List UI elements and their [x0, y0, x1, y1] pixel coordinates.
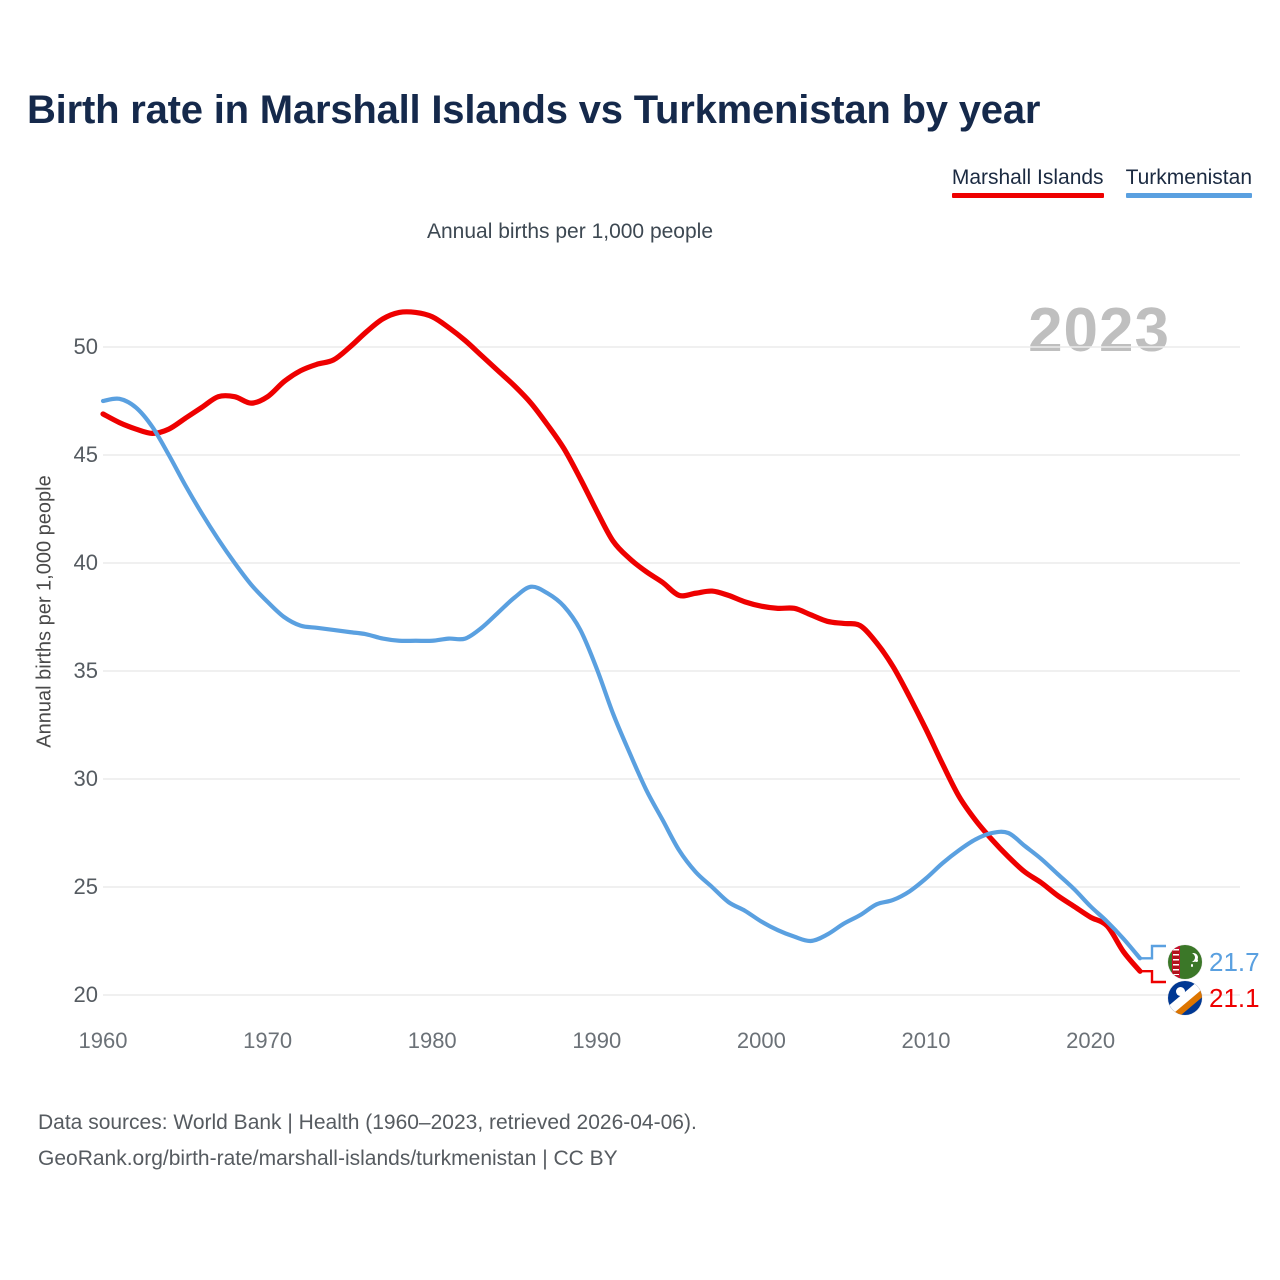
footer-attribution: GeoRank.org/birth-rate/marshall-islands/… [38, 1141, 697, 1177]
footer: Data sources: World Bank | Health (1960–… [38, 1105, 697, 1177]
marshall-islands-flag-icon [1168, 981, 1202, 1015]
end-value-marshall-islands: 21.1 [1209, 983, 1260, 1014]
series-line-turkmenistan [103, 399, 1140, 959]
x-tick-label: 1980 [408, 1028, 457, 1054]
x-tick-label: 1990 [572, 1028, 621, 1054]
end-value-turkmenistan: 21.7 [1209, 947, 1260, 978]
x-tick-label: 2020 [1066, 1028, 1115, 1054]
x-tick-label: 2010 [902, 1028, 951, 1054]
series-line-marshall-islands [103, 312, 1140, 971]
y-tick-label: 20 [38, 982, 98, 1008]
x-tick-label: 1970 [243, 1028, 292, 1054]
footer-data-sources: Data sources: World Bank | Health (1960–… [38, 1105, 697, 1141]
y-tick-label: 35 [38, 658, 98, 684]
end-label-turkmenistan[interactable]: 21.7 [1168, 945, 1260, 979]
chart-page: Birth rate in Marshall Islands vs Turkme… [0, 0, 1280, 1280]
y-tick-label: 40 [38, 550, 98, 576]
turkmenistan-flag-icon [1168, 945, 1202, 979]
connector [1140, 946, 1166, 958]
y-tick-label: 25 [38, 874, 98, 900]
end-label-connectors [1140, 946, 1166, 982]
y-tick-label: 30 [38, 766, 98, 792]
x-tick-label: 2000 [737, 1028, 786, 1054]
connector [1140, 971, 1166, 982]
y-tick-label: 50 [38, 334, 98, 360]
y-tick-label: 45 [38, 442, 98, 468]
series-lines [103, 312, 1140, 971]
gridlines [103, 347, 1240, 995]
plot-area [0, 0, 1280, 1280]
x-tick-label: 1960 [79, 1028, 128, 1054]
end-label-marshall-islands[interactable]: 21.1 [1168, 981, 1260, 1015]
